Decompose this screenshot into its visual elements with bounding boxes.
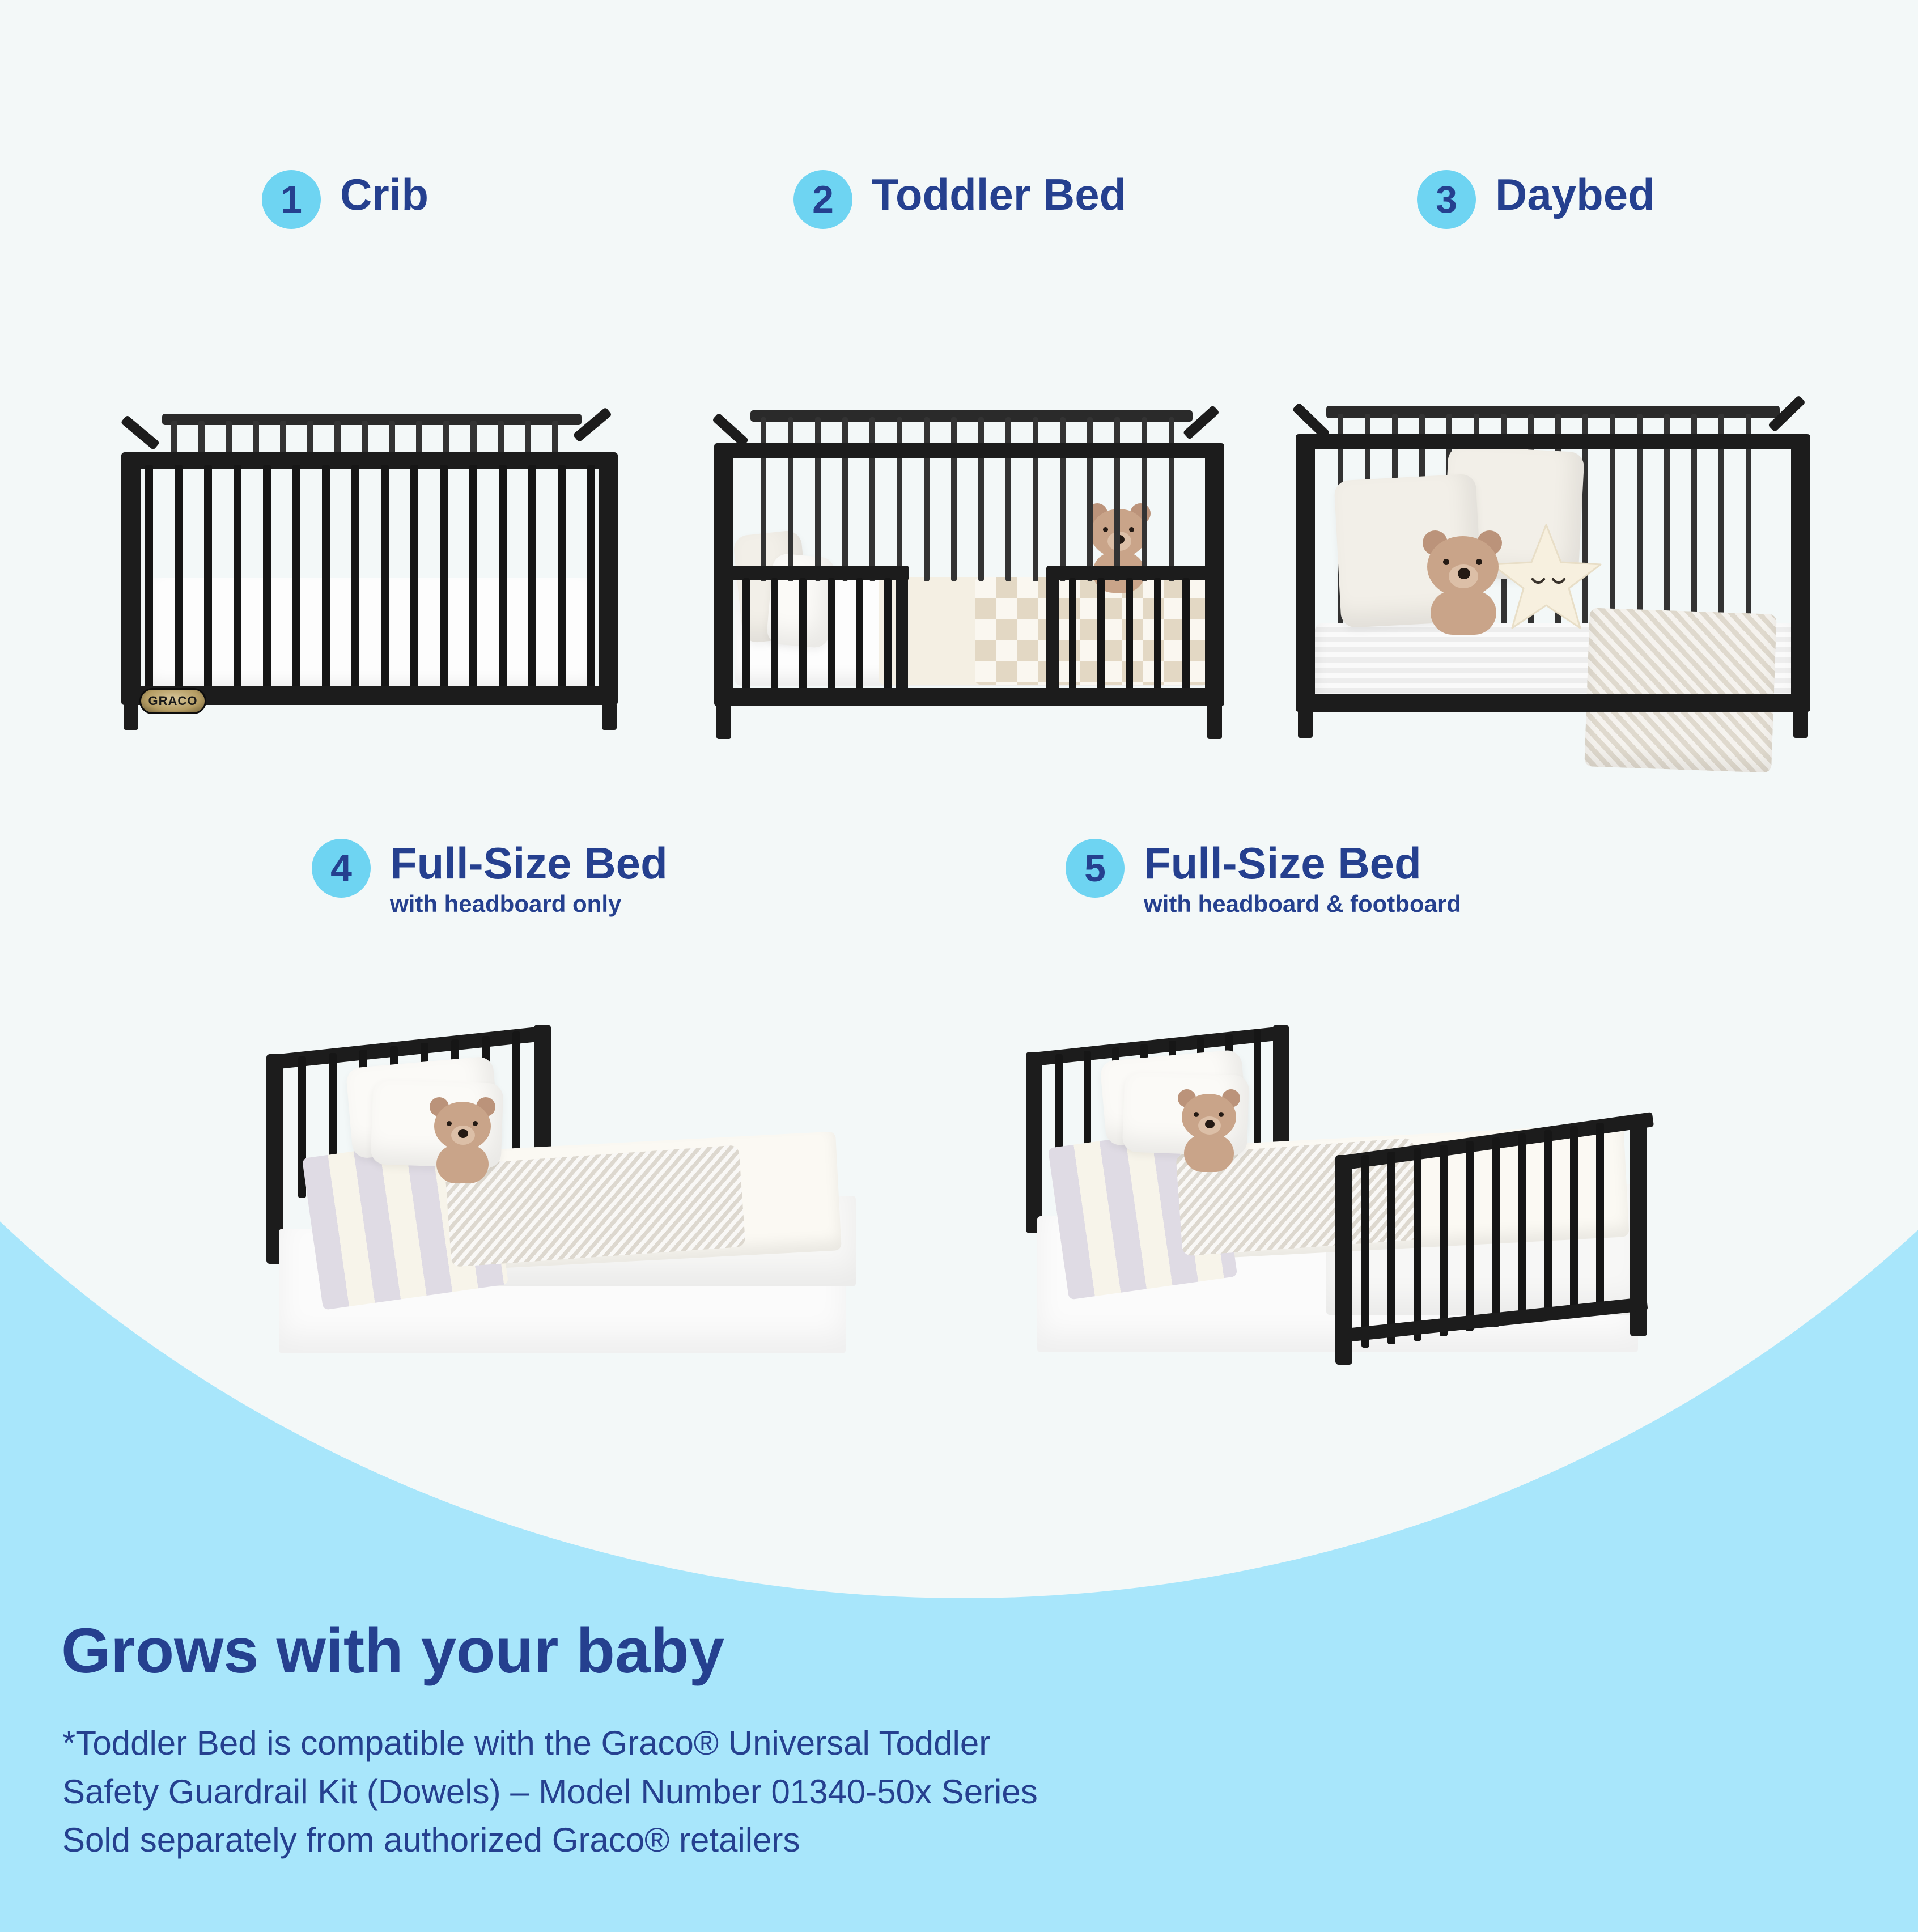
step-title-1: Crib: [340, 172, 428, 216]
step-badge-1: 1: [262, 170, 321, 229]
teddy-bear: [1418, 527, 1509, 635]
step-title-5: Full-Size Bed: [1144, 841, 1461, 885]
product-image-full-bed-headboard-footboard: [1009, 1014, 1689, 1366]
step-heading-5: 5 Full-Size Bed with headboard & footboa…: [1066, 839, 1461, 917]
step-subtitle-4: with headboard only: [390, 891, 668, 917]
step-heading-1: 1 Crib: [262, 170, 428, 229]
step-badge-4: 4: [312, 839, 371, 898]
footnote-line-3: Sold separately from authorized Graco® r…: [62, 1816, 1038, 1864]
step-badge-2: 2: [793, 170, 852, 229]
product-image-crib: GRACO: [108, 380, 629, 731]
step-heading-3: 3 Daybed: [1417, 170, 1655, 229]
infographic-canvas: 1 Crib 2 Toddler Bed 3 Daybed 4 Full-Siz…: [0, 0, 1918, 1932]
footnote-line-2: Safety Guardrail Kit (Dowels) – Model Nu…: [62, 1768, 1038, 1816]
banner-headline: Grows with your baby: [61, 1619, 724, 1683]
graco-logo-badge: GRACO: [139, 688, 206, 714]
teddy-bear: [426, 1095, 500, 1186]
step-title-3: Daybed: [1495, 172, 1655, 216]
product-image-toddler-bed: [708, 391, 1230, 742]
step-title-2: Toddler Bed: [872, 172, 1126, 216]
step-badge-5: 5: [1066, 839, 1125, 898]
blanket-checkered: [975, 577, 1213, 685]
step-title-4: Full-Size Bed: [390, 841, 668, 885]
banner-footnote: *Toddler Bed is compatible with the Grac…: [62, 1719, 1038, 1864]
product-image-daybed: [1292, 397, 1814, 737]
teddy-bear: [1174, 1087, 1245, 1173]
step-heading-2: 2 Toddler Bed: [793, 170, 1126, 229]
product-image-full-bed-headboard: [244, 1009, 856, 1349]
step-subtitle-5: with headboard & footboard: [1144, 891, 1461, 917]
footnote-line-1: *Toddler Bed is compatible with the Grac…: [62, 1719, 1038, 1767]
step-badge-3: 3: [1417, 170, 1476, 229]
fringe-throw: [1584, 608, 1777, 772]
step-heading-4: 4 Full-Size Bed with headboard only: [312, 839, 668, 917]
